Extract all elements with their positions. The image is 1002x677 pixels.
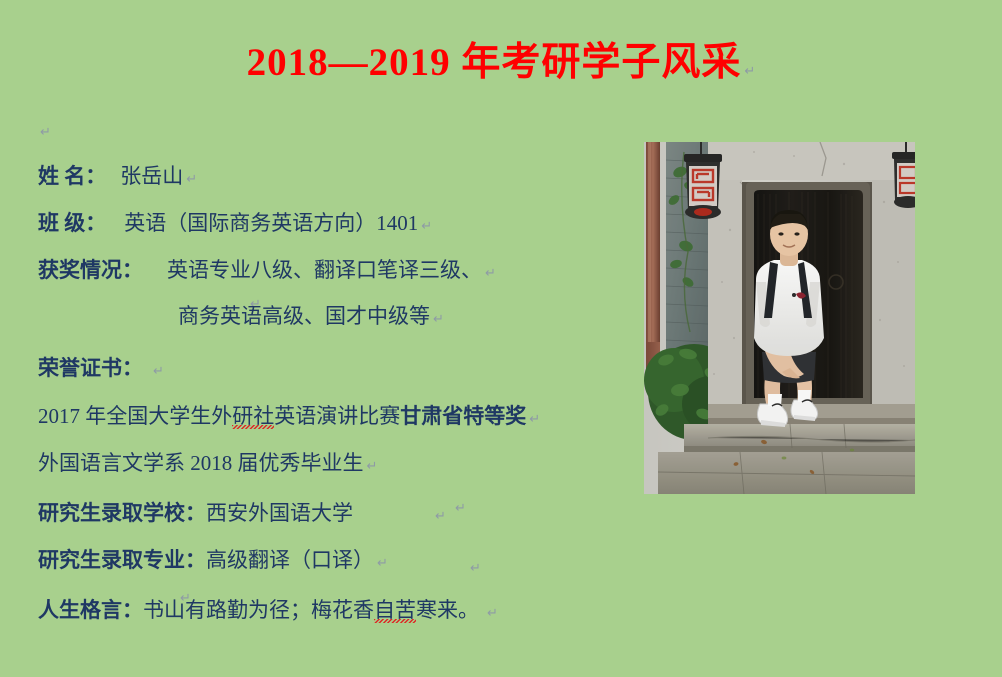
honor-line-1: 2017 年全国大学生外研社英语演讲比赛甘肃省特等奖↵ — [38, 406, 540, 427]
paragraph-mark-blank-1: ↵ — [40, 124, 51, 140]
honor-line-2-text: 外国语言文学系 2018 届优秀毕业生 — [38, 453, 364, 474]
field-value-name: 张岳山 — [120, 166, 183, 187]
paragraph-mark-certificates: ↵ — [153, 363, 164, 378]
field-value-motto-part1: 书山有路勤为径；梅花香 — [143, 600, 374, 621]
paragraph-mark-motto: ↵ — [487, 605, 498, 620]
field-label-name: 姓 名： — [38, 166, 106, 187]
field-label-graduate-school: 研究生录取学校： — [38, 503, 206, 524]
field-row-graduate-major: 研究生录取专业：高级翻译（口译）↵ — [38, 550, 388, 571]
paragraph-mark-honor-2: ↵ — [367, 458, 378, 473]
field-value-motto-misspelled: 自苦 — [374, 600, 416, 621]
paragraph-mark-graduate-school: ↵ — [435, 508, 446, 523]
field-row-class: 班 级：英语（国际商务英语方向）1401↵ — [38, 213, 432, 234]
field-value-graduate-school: 西安外国语大学 — [206, 503, 353, 524]
honor-line-2: 外国语言文学系 2018 届优秀毕业生↵ — [38, 453, 377, 474]
student-photo — [644, 142, 915, 494]
paragraph-mark-name: ↵ — [186, 171, 197, 186]
field-row-motto: 人生格言：书山有路勤为径；梅花香自苦寒来。↵ — [38, 600, 498, 621]
field-label-certificates: 荣誉证书： — [38, 358, 143, 379]
field-row-awards: 获奖情况：英语专业八级、翻译口笔译三级、↵ — [38, 260, 496, 281]
field-row-awards-continued: 商务英语高级、国才中级等↵ — [178, 306, 444, 327]
paragraph-mark-honor-1: ↵ — [529, 411, 540, 426]
field-label-class: 班 级： — [38, 213, 106, 234]
field-value-graduate-major: 高级翻译（口译） — [206, 550, 374, 571]
field-label-graduate-major: 研究生录取专业： — [38, 550, 206, 571]
field-value-awards-line2: 商务英语高级、国才中级等 — [178, 306, 430, 327]
page-title-text: 2018—2019 年考研学子风采 — [247, 42, 742, 85]
paragraph-mark-class: ↵ — [421, 218, 432, 233]
paragraph-mark-awards-1: ↵ — [485, 265, 496, 280]
field-row-graduate-school: 研究生录取学校：西安外国语大学↵ — [38, 503, 446, 524]
paragraph-mark-title: ↵ — [744, 63, 755, 78]
field-row-certificates-heading: 荣誉证书：↵ — [38, 358, 164, 379]
field-row-name: 姓 名：张岳山↵ — [38, 166, 197, 187]
field-label-motto: 人生格言： — [38, 600, 143, 621]
honor-line-1-emphasis: 甘肃省特等奖 — [400, 406, 526, 427]
honor-line-1-prefix: 2017 年全国大学生外 — [38, 406, 232, 427]
honor-line-1-misspelled-text: 研社 — [232, 406, 274, 427]
student-photo-image — [644, 142, 915, 494]
paragraph-mark-blank-4: ↵ — [470, 560, 481, 576]
page-title: 2018—2019 年考研学子风采↵ — [0, 42, 1002, 85]
field-label-awards: 获奖情况： — [38, 260, 143, 281]
paragraph-mark-blank-3: ↵ — [455, 500, 466, 516]
paragraph-mark-graduate-major: ↵ — [377, 555, 388, 570]
document-page: 2018—2019 年考研学子风采↵ ↵ ↵ ↵ ↵ ↵ 姓 名：张岳山↵ 班 … — [0, 0, 1002, 677]
field-value-class: 英语（国际商务英语方向）1401 — [124, 213, 418, 234]
honor-line-1-suffix: 英语演讲比赛 — [274, 406, 400, 427]
field-value-motto-part2: 寒来。 — [416, 600, 479, 621]
field-value-awards-line1: 英语专业八级、翻译口笔译三级、 — [167, 260, 482, 281]
paragraph-mark-awards-2: ↵ — [433, 311, 444, 326]
